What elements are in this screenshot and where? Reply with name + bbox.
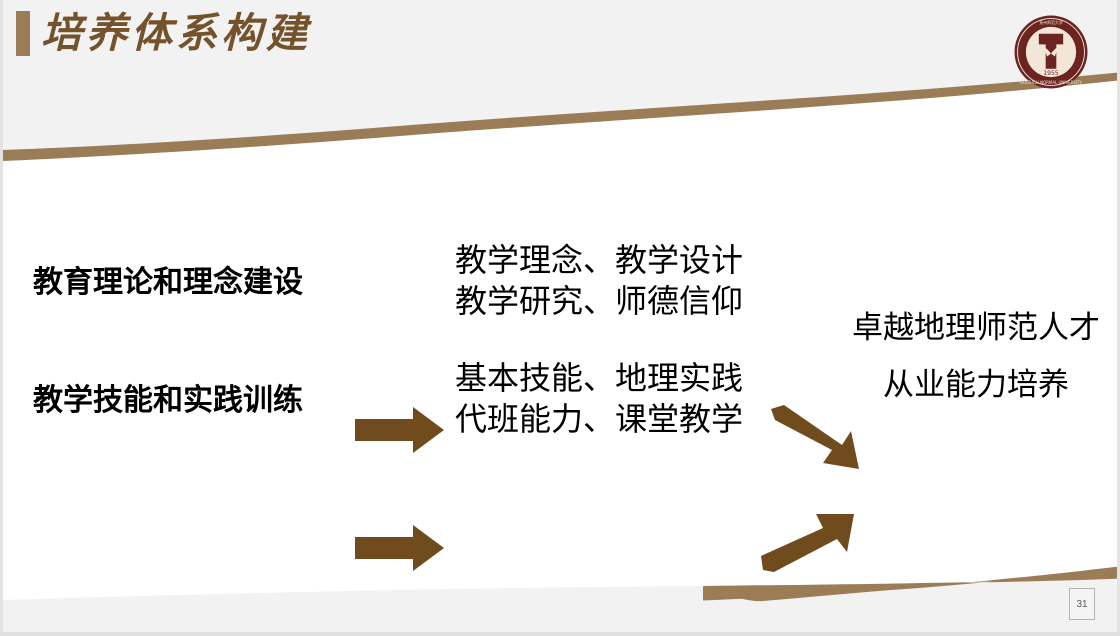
diagonal-arrow-down-right-icon	[769, 405, 864, 477]
page-number-text: 31	[1076, 599, 1087, 610]
title-accent-bar	[16, 11, 30, 56]
diagram-detail-block-2: 基本技能、地理实践 代班能力、课堂教学	[455, 358, 775, 440]
diagram-detail-line-1b: 教学研究、师德信仰	[455, 281, 775, 322]
diagram-detail-line-1a: 教学理念、教学设计	[455, 240, 775, 281]
diagram-detail-line-2b: 代班能力、课堂教学	[455, 399, 775, 440]
diagram-input-label-1: 教育理论和理念建设	[33, 263, 343, 303]
right-arrow-icon-2	[355, 524, 445, 572]
diagram-outcome-line-1: 卓越地理师范人才	[831, 299, 1120, 356]
page-number-box: 31	[1069, 588, 1095, 620]
diagonal-arrow-up-right-icon	[761, 502, 856, 574]
slide-canvas: 培养体系构建 1955 贵州师范大学 GUIZHOU NORMAL UNIVER…	[0, 0, 1120, 636]
diagram-detail-block-1: 教学理念、教学设计 教学研究、师德信仰	[455, 240, 775, 322]
page-title: 培养体系构建	[41, 2, 311, 64]
logo-ring-text-top: 贵州师范大学	[1039, 20, 1063, 25]
right-arrow-icon-1	[355, 406, 445, 454]
diagram-outcome-block: 卓越地理师范人才 从业能力培养	[831, 299, 1120, 413]
logo-ring-text-bottom: GUIZHOU NORMAL UNIVERSITY	[1020, 80, 1082, 85]
diagram-detail-line-2a: 基本技能、地理实践	[455, 358, 775, 399]
diagram-input-label-2: 教学技能和实践训练	[33, 381, 343, 421]
diagram-content: 教育理论和理念建设 教学理念、教学设计 教学研究、师德信仰 教学技能和实践训练 …	[3, 150, 1120, 550]
university-seal-logo: 1955 贵州师范大学 GUIZHOU NORMAL UNIVERSITY	[1013, 14, 1089, 90]
footer-band-shape	[3, 578, 1120, 636]
slide-header: 培养体系构建 1955 贵州师范大学 GUIZHOU NORMAL UNIVER…	[3, 0, 1120, 150]
diagram-outcome-line-2: 从业能力培养	[831, 356, 1120, 413]
logo-year-text: 1955	[1043, 70, 1059, 77]
